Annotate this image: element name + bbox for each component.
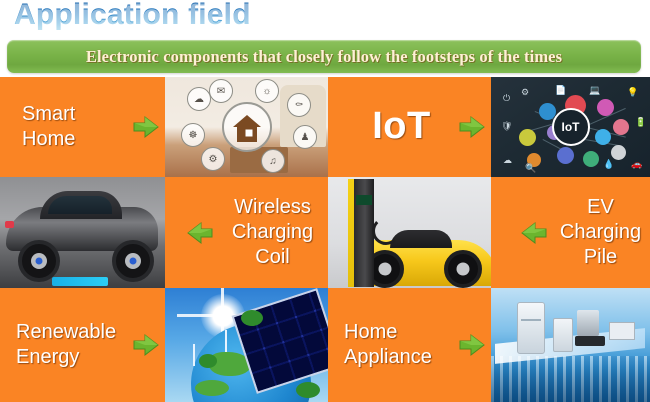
arrow-right-icon <box>459 333 485 357</box>
wind-turbine-shape <box>193 344 195 366</box>
washing-machine-shape <box>553 318 573 352</box>
smart-home-photo: ☁ ✉ ☼ ⚰ ♟ ☸ ⚙ ♫ <box>165 77 328 177</box>
cell-iot-label[interactable]: IoT <box>328 77 491 177</box>
cell-ev-charging-image <box>328 177 491 288</box>
monitor-icon: 💻 <box>589 85 600 96</box>
music-node-icon: ♫ <box>261 149 285 173</box>
key-node-icon: ⚰ <box>287 93 311 117</box>
cell-smart-home-label[interactable]: Smart Home <box>0 77 165 177</box>
plug-icon: ⏻ <box>503 93 510 104</box>
tail-light-shape <box>5 221 14 228</box>
renewable-energy-line-1: Renewable <box>16 320 127 345</box>
search-icon: 🔍 <box>525 163 536 174</box>
document-icon: 📄 <box>555 85 566 96</box>
iot-label: IoT <box>350 103 453 151</box>
renewable-energy-label: Renewable Energy <box>16 320 127 370</box>
slide-canvas: Application field Electronic components … <box>0 0 650 402</box>
cell-home-appliance-label[interactable]: Home Appliance <box>328 288 491 402</box>
smart-home-line-2: Home <box>22 127 127 152</box>
battery-icon: 🔋 <box>635 117 646 128</box>
brake-caliper <box>130 258 137 265</box>
shield-icon: 🛡 <box>501 121 512 132</box>
cloud-node-icon: ☁ <box>187 87 211 111</box>
range-hood-shape <box>577 310 599 336</box>
arrow-right-icon <box>133 115 159 139</box>
home-appliance-label: Home Appliance <box>344 320 453 370</box>
cell-ev-charging-label[interactable]: EV Charging Pile <box>491 177 650 288</box>
iot-node <box>583 151 599 167</box>
arrow-left-icon <box>521 221 547 245</box>
grey-sports-car-photo <box>0 177 165 288</box>
cell-smart-home-image: ☁ ✉ ☼ ⚰ ♟ ☸ ⚙ ♫ <box>165 77 328 177</box>
car-window-shape <box>48 196 112 214</box>
car-wheel <box>444 250 482 288</box>
renewable-energy-line-2: Energy <box>16 345 127 370</box>
iot-node <box>613 119 629 135</box>
arrow-right-icon <box>133 333 159 357</box>
iot-node <box>519 129 536 146</box>
city-skyline-shape <box>491 356 650 402</box>
subtitle-banner: Electronic components that closely follo… <box>7 40 641 73</box>
charging-cable <box>372 217 400 245</box>
television-shape <box>609 322 635 340</box>
iot-node <box>611 145 626 160</box>
brake-caliper <box>36 258 43 265</box>
ev-charging-label: EV Charging Pile <box>557 195 644 271</box>
landmass-shape <box>195 380 229 396</box>
page-title: Application field <box>14 0 251 32</box>
tree-shape <box>199 354 217 368</box>
charging-pile-display <box>356 195 372 205</box>
camera-node-icon: ☼ <box>255 79 279 103</box>
iot-network-graphic: ⏻ ⚙ 📄 💻 💡 🛡 🔋 ☁ 🔍 💧 🚗 IoT <box>491 77 650 177</box>
car-wheel <box>18 240 60 282</box>
iot-node <box>595 129 611 145</box>
refrigerator-shape <box>517 302 545 354</box>
house-window-shape <box>245 130 252 137</box>
ev-charging-line-2: Charging <box>557 220 644 245</box>
cloud-icon: ☁ <box>503 155 512 166</box>
wireless-charging-line-3: Coil <box>223 245 322 270</box>
iot-core-node: IoT <box>552 108 590 146</box>
iot-node <box>557 147 574 164</box>
subtitle-text: Electronic components that closely follo… <box>86 47 562 67</box>
chat-node-icon: ✉ <box>209 79 233 103</box>
wireless-charging-line-2: Charging <box>223 220 322 245</box>
wind-turbine-shape <box>225 330 227 352</box>
bulb-icon: 💡 <box>627 87 638 98</box>
wheel-rim <box>457 263 470 276</box>
cell-home-appliance-image <box>491 288 650 402</box>
smart-home-label: Smart Home <box>22 102 127 152</box>
ev-charging-line-3: Pile <box>557 245 644 270</box>
arrow-left-icon <box>187 221 213 245</box>
wireless-charging-pad <box>52 277 108 286</box>
wireless-charging-label: Wireless Charging Coil <box>223 195 322 271</box>
ev-charging-line-1: EV <box>557 195 644 220</box>
cell-renewable-energy-label[interactable]: Renewable Energy <box>0 288 165 402</box>
water-drop-icon: 💧 <box>603 159 614 170</box>
solar-earth-photo <box>165 288 328 402</box>
globe-node-icon: ☸ <box>181 123 205 147</box>
tree-shape <box>296 382 320 398</box>
car-icon: 🚗 <box>631 159 642 170</box>
ev-charging-pile-photo <box>328 177 491 288</box>
arrow-right-icon <box>459 115 485 139</box>
wheel-rim <box>379 263 392 276</box>
cell-iot-image: ⏻ ⚙ 📄 💻 💡 🛡 🔋 ☁ 🔍 💧 🚗 IoT <box>491 77 650 177</box>
home-appliance-photo <box>491 288 650 402</box>
wireless-charging-line-1: Wireless <box>223 195 322 220</box>
cell-wireless-charging-image <box>0 177 165 288</box>
home-appliance-line-1: Home <box>344 320 453 345</box>
iot-node <box>597 99 614 116</box>
tree-shape <box>241 310 263 326</box>
home-appliance-line-2: Appliance <box>344 345 453 370</box>
gear-node-icon: ⚙ <box>201 147 225 171</box>
smart-home-line-1: Smart <box>22 102 127 127</box>
application-grid: Smart Home ☁ ✉ ☼ ⚰ ♟ ☸ ⚙ ♫ <box>0 77 650 402</box>
people-node-icon: ♟ <box>293 125 317 149</box>
gear-icon: ⚙ <box>521 87 529 98</box>
stove-shape <box>575 336 605 346</box>
cell-renewable-energy-image <box>165 288 328 402</box>
cell-wireless-charging-label[interactable]: Wireless Charging Coil <box>165 177 328 288</box>
title-bar: Application field <box>0 0 650 38</box>
car-wheel <box>112 240 154 282</box>
